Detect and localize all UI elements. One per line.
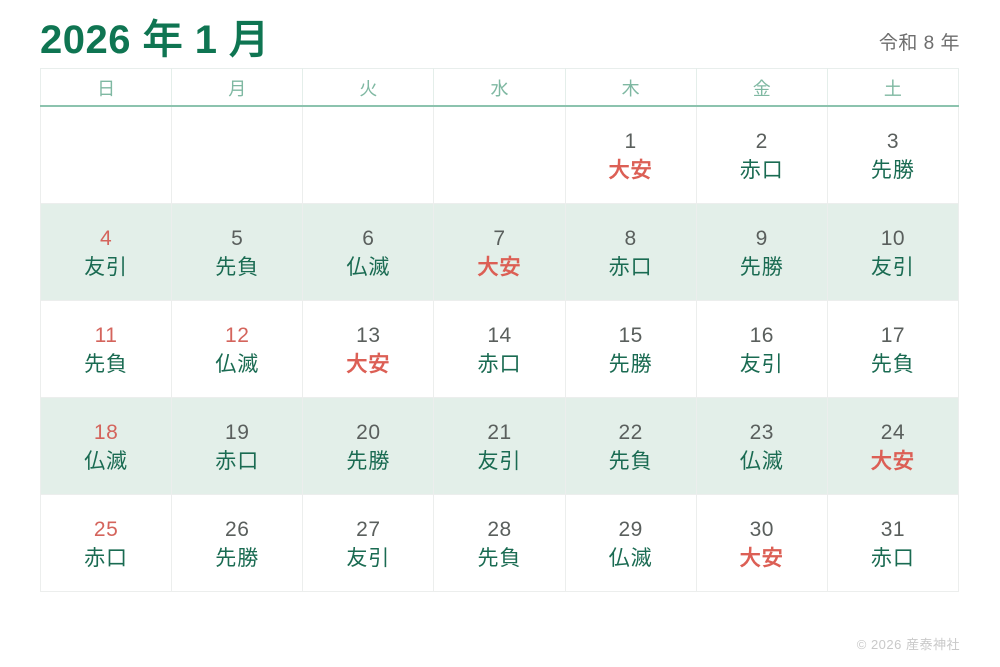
calendar-cell-day[interactable]: 1大安 bbox=[565, 106, 696, 204]
day-number: 30 bbox=[750, 519, 774, 540]
calendar-header: 2026 年 1 月 令和 8 年 bbox=[0, 0, 1000, 66]
rokuyo-label: 友引 bbox=[346, 548, 390, 569]
calendar-cell-empty bbox=[172, 106, 303, 204]
calendar-cell-day[interactable]: 28先負 bbox=[434, 495, 565, 592]
cell-content: 29仏滅 bbox=[566, 495, 696, 591]
rokuyo-label: 仏滅 bbox=[215, 354, 259, 375]
rokuyo-label: 大安 bbox=[871, 451, 915, 472]
calendar-cell-day[interactable]: 25赤口 bbox=[41, 495, 172, 592]
calendar-cell-day[interactable]: 30大安 bbox=[696, 495, 827, 592]
page-title: 2026 年 1 月 bbox=[40, 20, 270, 60]
rokuyo-label: 友引 bbox=[477, 451, 521, 472]
calendar-week-row: 25赤口26先勝27友引28先負29仏滅30大安31赤口 bbox=[41, 495, 959, 592]
rokuyo-label: 先負 bbox=[84, 354, 128, 375]
calendar-cell-day[interactable]: 17先負 bbox=[827, 301, 958, 398]
rokuyo-label: 仏滅 bbox=[346, 257, 390, 278]
cell-content: 11先負 bbox=[41, 301, 171, 397]
rokuyo-label: 先勝 bbox=[215, 548, 259, 569]
calendar-cell-day[interactable]: 3先勝 bbox=[827, 106, 958, 204]
cell-content: 30大安 bbox=[697, 495, 827, 591]
calendar-cell-day[interactable]: 9先勝 bbox=[696, 204, 827, 301]
day-number: 11 bbox=[95, 325, 118, 346]
day-number: 9 bbox=[756, 228, 768, 249]
calendar-cell-day[interactable]: 6仏滅 bbox=[303, 204, 434, 301]
cell-content: 15先勝 bbox=[566, 301, 696, 397]
day-number: 24 bbox=[881, 422, 905, 443]
day-number: 10 bbox=[881, 228, 905, 249]
cell-content: 17先負 bbox=[828, 301, 958, 397]
weekday-header-saturday: 土 bbox=[827, 69, 958, 107]
day-number: 18 bbox=[94, 422, 118, 443]
rokuyo-label: 赤口 bbox=[84, 548, 128, 569]
calendar-cell-day[interactable]: 29仏滅 bbox=[565, 495, 696, 592]
day-number: 20 bbox=[356, 422, 380, 443]
calendar-cell-day[interactable]: 2赤口 bbox=[696, 106, 827, 204]
day-number: 28 bbox=[487, 519, 511, 540]
cell-content: 31赤口 bbox=[828, 495, 958, 591]
day-number: 5 bbox=[231, 228, 243, 249]
day-number: 6 bbox=[362, 228, 374, 249]
rokuyo-label: 赤口 bbox=[740, 160, 784, 181]
rokuyo-label: 赤口 bbox=[215, 451, 259, 472]
calendar-cell-empty bbox=[434, 106, 565, 204]
day-number: 16 bbox=[750, 325, 774, 346]
rokuyo-label: 先負 bbox=[215, 257, 259, 278]
day-number: 21 bbox=[487, 422, 511, 443]
calendar-cell-day[interactable]: 11先負 bbox=[41, 301, 172, 398]
weekday-header-row: 日月火水木金土 bbox=[41, 69, 959, 107]
calendar-cell-day[interactable]: 22先負 bbox=[565, 398, 696, 495]
calendar-week-row: 4友引5先負6仏滅7大安8赤口9先勝10友引 bbox=[41, 204, 959, 301]
weekday-header-tuesday: 火 bbox=[303, 69, 434, 107]
rokuyo-label: 先勝 bbox=[346, 451, 390, 472]
cell-content: 7大安 bbox=[434, 204, 564, 300]
calendar-cell-day[interactable]: 13大安 bbox=[303, 301, 434, 398]
day-number: 1 bbox=[625, 131, 637, 152]
calendar-cell-day[interactable]: 21友引 bbox=[434, 398, 565, 495]
cell-content: 24大安 bbox=[828, 398, 958, 494]
day-number: 7 bbox=[493, 228, 505, 249]
cell-content: 16友引 bbox=[697, 301, 827, 397]
rokuyo-label: 友引 bbox=[84, 257, 128, 278]
calendar-cell-day[interactable]: 18仏滅 bbox=[41, 398, 172, 495]
day-number: 22 bbox=[618, 422, 642, 443]
cell-content: 8赤口 bbox=[566, 204, 696, 300]
cell-content: 3先勝 bbox=[828, 107, 958, 203]
cell-content: 20先勝 bbox=[303, 398, 433, 494]
cell-content: 26先勝 bbox=[172, 495, 302, 591]
rokuyo-label: 赤口 bbox=[477, 354, 521, 375]
cell-content: 9先勝 bbox=[697, 204, 827, 300]
calendar-cell-day[interactable]: 14赤口 bbox=[434, 301, 565, 398]
cell-content: 1大安 bbox=[566, 107, 696, 203]
rokuyo-label: 仏滅 bbox=[609, 548, 653, 569]
cell-content: 14赤口 bbox=[434, 301, 564, 397]
day-number: 15 bbox=[618, 325, 642, 346]
title-block: 2026 年 1 月 bbox=[40, 20, 270, 66]
calendar-cell-day[interactable]: 10友引 bbox=[827, 204, 958, 301]
rokuyo-label: 大安 bbox=[609, 160, 653, 181]
footer-copyright: © 2026 産泰神社 bbox=[857, 634, 960, 653]
calendar-cell-day[interactable]: 20先勝 bbox=[303, 398, 434, 495]
rokuyo-label: 大安 bbox=[477, 257, 521, 278]
day-number: 3 bbox=[887, 131, 899, 152]
rokuyo-label: 赤口 bbox=[871, 548, 915, 569]
calendar-cell-day[interactable]: 4友引 bbox=[41, 204, 172, 301]
weekday-header-friday: 金 bbox=[696, 69, 827, 107]
cell-content: 2赤口 bbox=[697, 107, 827, 203]
calendar-week-row: 11先負12仏滅13大安14赤口15先勝16友引17先負 bbox=[41, 301, 959, 398]
day-number: 31 bbox=[881, 519, 905, 540]
day-number: 14 bbox=[487, 325, 511, 346]
cell-content: 21友引 bbox=[434, 398, 564, 494]
cell-content: 12仏滅 bbox=[172, 301, 302, 397]
calendar-week-row: 18仏滅19赤口20先勝21友引22先負23仏滅24大安 bbox=[41, 398, 959, 495]
calendar-cell-day[interactable]: 16友引 bbox=[696, 301, 827, 398]
rokuyo-label: 仏滅 bbox=[84, 451, 128, 472]
calendar-cell-empty bbox=[41, 106, 172, 204]
day-number: 27 bbox=[356, 519, 380, 540]
calendar-cell-day[interactable]: 8赤口 bbox=[565, 204, 696, 301]
calendar-cell-day[interactable]: 7大安 bbox=[434, 204, 565, 301]
cell-content: 5先負 bbox=[172, 204, 302, 300]
weekday-header-monday: 月 bbox=[172, 69, 303, 107]
rokuyo-label: 大安 bbox=[740, 548, 784, 569]
rokuyo-label: 先負 bbox=[477, 548, 521, 569]
calendar-cell-day[interactable]: 5先負 bbox=[172, 204, 303, 301]
rokuyo-label: 先負 bbox=[609, 451, 653, 472]
rokuyo-label: 先勝 bbox=[871, 160, 915, 181]
rokuyo-label: 大安 bbox=[346, 354, 390, 375]
calendar-cell-day[interactable]: 27友引 bbox=[303, 495, 434, 592]
weekday-header-thursday: 木 bbox=[565, 69, 696, 107]
day-number: 8 bbox=[625, 228, 637, 249]
day-number: 2 bbox=[756, 131, 768, 152]
cell-content: 18仏滅 bbox=[41, 398, 171, 494]
calendar-cell-day[interactable]: 12仏滅 bbox=[172, 301, 303, 398]
rokuyo-label: 先負 bbox=[871, 354, 915, 375]
day-number: 29 bbox=[618, 519, 642, 540]
calendar-cell-day[interactable]: 24大安 bbox=[827, 398, 958, 495]
cell-content: 22先負 bbox=[566, 398, 696, 494]
day-number: 25 bbox=[94, 519, 118, 540]
calendar-cell-empty bbox=[303, 106, 434, 204]
rokuyo-label: 先勝 bbox=[609, 354, 653, 375]
day-number: 12 bbox=[225, 325, 249, 346]
cell-content: 10友引 bbox=[828, 204, 958, 300]
rokuyo-label: 友引 bbox=[871, 257, 915, 278]
calendar-cell-day[interactable]: 19赤口 bbox=[172, 398, 303, 495]
weekday-header-wednesday: 水 bbox=[434, 69, 565, 107]
rokuyo-label: 先勝 bbox=[740, 257, 784, 278]
era-block: 令和 8 年 bbox=[879, 34, 960, 66]
cell-content: 28先負 bbox=[434, 495, 564, 591]
weekday-header-sunday: 日 bbox=[41, 69, 172, 107]
calendar-cell-day[interactable]: 31赤口 bbox=[827, 495, 958, 592]
calendar-week-row: 1大安2赤口3先勝 bbox=[41, 106, 959, 204]
day-number: 4 bbox=[100, 228, 112, 249]
cell-content: 27友引 bbox=[303, 495, 433, 591]
day-number: 13 bbox=[356, 325, 380, 346]
cell-content: 4友引 bbox=[41, 204, 171, 300]
calendar-cell-day[interactable]: 15先勝 bbox=[565, 301, 696, 398]
rokuyo-label: 赤口 bbox=[609, 257, 653, 278]
cell-content: 25赤口 bbox=[41, 495, 171, 591]
cell-content: 19赤口 bbox=[172, 398, 302, 494]
cell-content: 23仏滅 bbox=[697, 398, 827, 494]
rokuyo-label: 仏滅 bbox=[740, 451, 784, 472]
calendar-body: 1大安2赤口3先勝4友引5先負6仏滅7大安8赤口9先勝10友引11先負12仏滅1… bbox=[41, 106, 959, 592]
calendar-page: 2026 年 1 月 令和 8 年 日月火水木金土 1大安2赤口3先勝4友引5先… bbox=[0, 0, 1000, 667]
calendar-cell-day[interactable]: 23仏滅 bbox=[696, 398, 827, 495]
cell-content: 6仏滅 bbox=[303, 204, 433, 300]
day-number: 19 bbox=[225, 422, 249, 443]
day-number: 23 bbox=[750, 422, 774, 443]
calendar-grid: 日月火水木金土 1大安2赤口3先勝4友引5先負6仏滅7大安8赤口9先勝10友引1… bbox=[40, 68, 959, 592]
day-number: 26 bbox=[225, 519, 249, 540]
calendar-cell-day[interactable]: 26先勝 bbox=[172, 495, 303, 592]
era-label: 令和 8 年 bbox=[879, 33, 960, 54]
day-number: 17 bbox=[881, 325, 905, 346]
cell-content: 13大安 bbox=[303, 301, 433, 397]
rokuyo-label: 友引 bbox=[740, 354, 784, 375]
